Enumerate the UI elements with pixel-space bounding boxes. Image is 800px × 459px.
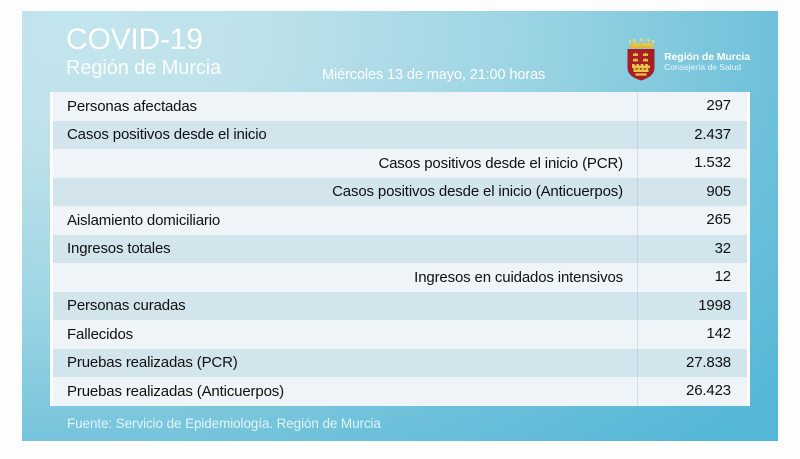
report-datetime: Miércoles 13 de mayo, 21:00 horas [322, 67, 545, 83]
row-value: 1.532 [637, 149, 747, 178]
row-label: Pruebas realizadas (PCR) [53, 354, 637, 371]
covid-stats-card: COVID-19 Región de Murcia Miércoles 13 d… [22, 11, 778, 441]
row-label: Ingresos totales [53, 240, 637, 257]
page-frame: COVID-19 Región de Murcia Miércoles 13 d… [0, 0, 800, 459]
row-value: 27.838 [637, 349, 747, 378]
row-value: 2.437 [637, 121, 747, 150]
table-row: Aislamiento domiciliario265 [53, 206, 747, 235]
region-de-murcia-coat-of-arms-icon [624, 35, 658, 81]
table-row: Casos positivos desde el inicio2.437 [53, 121, 747, 150]
table-row: Pruebas realizadas (Anticuerpos)26.423 [53, 377, 747, 406]
table-row: Ingresos totales32 [53, 235, 747, 264]
row-value: 26.423 [637, 377, 747, 406]
table-row: Pruebas realizadas (PCR)27.838 [53, 349, 747, 378]
row-value: 32 [637, 235, 747, 264]
row-value: 905 [637, 178, 747, 207]
row-label: Fallecidos [53, 326, 637, 343]
row-value: 1998 [637, 292, 747, 321]
covid-stats-table: Personas afectadas297Casos positivos des… [50, 92, 750, 406]
page-title: COVID-19 [66, 25, 221, 55]
title-block: COVID-19 Región de Murcia [66, 25, 221, 78]
table-row: Casos positivos desde el inicio (PCR)1.5… [53, 149, 747, 178]
row-label: Casos positivos desde el inicio (PCR) [53, 155, 637, 172]
table-row: Casos positivos desde el inicio (Anticue… [53, 178, 747, 207]
table-row: Ingresos en cuidados intensivos12 [53, 263, 747, 292]
row-label: Personas curadas [53, 297, 637, 314]
table-row: Personas curadas1998 [53, 292, 747, 321]
row-value: 297 [637, 92, 747, 121]
row-label: Casos positivos desde el inicio (Anticue… [53, 183, 637, 200]
logo: Región de Murcia Consejería de Salud [624, 35, 750, 81]
card-footer: Fuente: Servicio de Epidemiología. Regió… [50, 406, 750, 441]
row-label: Personas afectadas [53, 98, 637, 115]
row-value: 12 [637, 263, 747, 292]
card-header: COVID-19 Región de Murcia Miércoles 13 d… [22, 11, 778, 92]
row-value: 265 [637, 206, 747, 235]
logo-text: Región de Murcia Consejería de Salud [664, 43, 750, 73]
source-note: Fuente: Servicio de Epidemiología. Regió… [50, 416, 381, 431]
table-row: Personas afectadas297 [53, 92, 747, 121]
row-label: Casos positivos desde el inicio [53, 126, 637, 143]
page-subtitle: Región de Murcia [66, 58, 221, 78]
row-label: Pruebas realizadas (Anticuerpos) [53, 383, 637, 400]
row-label: Aislamiento domiciliario [53, 212, 637, 229]
logo-line-consejeria: Consejería de Salud [664, 63, 750, 73]
row-value: 142 [637, 320, 747, 349]
table-row: Fallecidos142 [53, 320, 747, 349]
row-label: Ingresos en cuidados intensivos [53, 269, 637, 286]
